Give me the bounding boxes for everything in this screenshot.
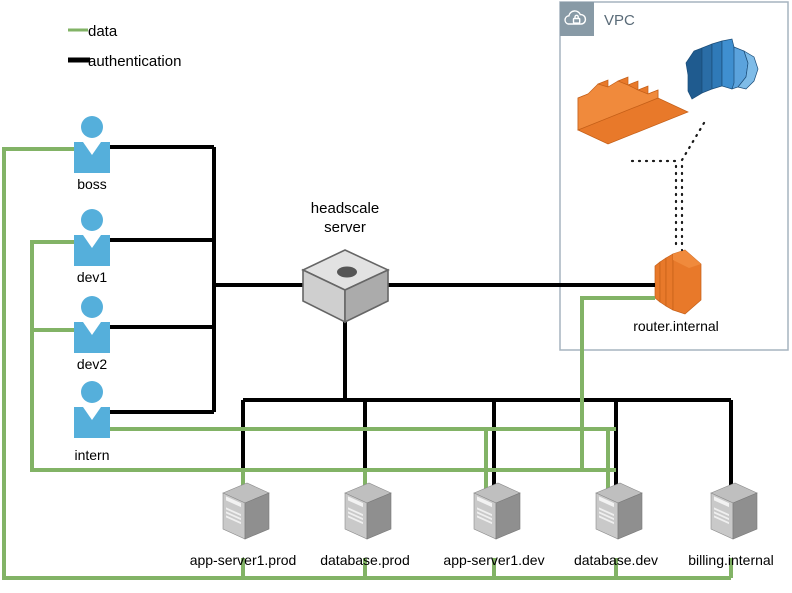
person-icon bbox=[74, 381, 110, 438]
user-boss-label: boss bbox=[77, 176, 107, 192]
diagram-svg: data authentication VPC bbox=[0, 0, 792, 593]
server-icon bbox=[596, 483, 642, 539]
person-icon bbox=[74, 116, 110, 173]
legend-label-authentication: authentication bbox=[88, 53, 181, 70]
headscale-server[interactable]: headscale server bbox=[303, 200, 388, 322]
network-diagram-canvas: data authentication VPC bbox=[0, 0, 792, 593]
user-intern-label: intern bbox=[74, 447, 109, 463]
person-icon bbox=[74, 209, 110, 266]
server-billing-internal-label: billing.internal bbox=[688, 552, 774, 568]
user-dev1-label: dev1 bbox=[77, 269, 108, 285]
server-icon bbox=[474, 483, 520, 539]
legend: data authentication bbox=[68, 23, 181, 70]
user-dev2-label: dev2 bbox=[77, 356, 108, 372]
headscale-label-line1: headscale bbox=[311, 200, 379, 217]
legend-label-data: data bbox=[88, 23, 118, 40]
cube-icon bbox=[303, 250, 388, 322]
vpc-label: VPC bbox=[604, 12, 635, 29]
server-database-prod[interactable]: database.prod bbox=[320, 483, 410, 568]
headscale-label-line2: server bbox=[324, 219, 366, 236]
server-app-server1-prod[interactable]: app-server1.prod bbox=[190, 483, 297, 568]
server-icon bbox=[345, 483, 391, 539]
server-app-server1-dev-label: app-server1.dev bbox=[443, 552, 544, 568]
server-icon bbox=[711, 483, 757, 539]
server-app-server1-prod-label: app-server1.prod bbox=[190, 552, 297, 568]
server-database-dev[interactable]: database.dev bbox=[574, 483, 658, 568]
person-icon bbox=[74, 296, 110, 353]
legend-item-authentication: authentication bbox=[68, 53, 181, 70]
user-intern[interactable]: intern bbox=[74, 381, 110, 463]
user-dev2[interactable]: dev2 bbox=[74, 296, 110, 372]
user-dev1[interactable]: dev1 bbox=[74, 209, 110, 285]
legend-item-data: data bbox=[68, 23, 118, 40]
server-app-server1-dev[interactable]: app-server1.dev bbox=[443, 483, 544, 568]
server-database-dev-label: database.dev bbox=[574, 552, 658, 568]
server-icon bbox=[223, 483, 269, 539]
server-database-prod-label: database.prod bbox=[320, 552, 410, 568]
router-internal-label: router.internal bbox=[633, 318, 719, 334]
user-boss[interactable]: boss bbox=[74, 116, 110, 192]
server-billing-internal[interactable]: billing.internal bbox=[688, 483, 774, 568]
